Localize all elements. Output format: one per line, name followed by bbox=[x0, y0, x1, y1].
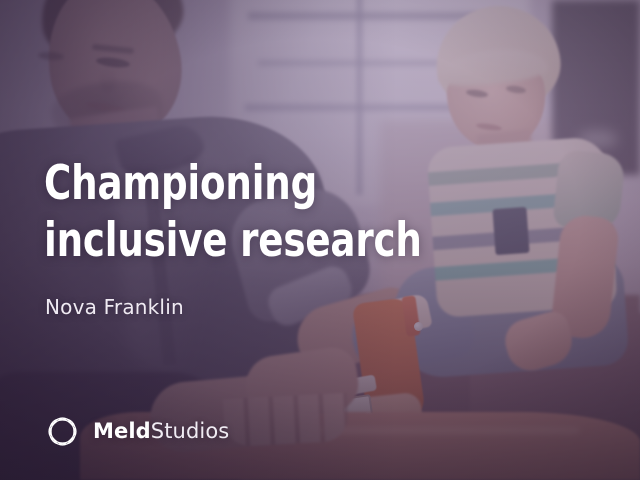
author-byline: Nova Franklin bbox=[45, 295, 184, 319]
logo-word-studios: Studios bbox=[151, 419, 230, 443]
meld-rings-logo-mark bbox=[45, 414, 80, 449]
slide-content: Championing inclusive research Nova Fran… bbox=[0, 0, 640, 480]
logo-wordmark: MeldStudios bbox=[93, 421, 229, 442]
meld-studios-logo[interactable]: MeldStudios bbox=[45, 414, 229, 449]
logo-word-meld: Meld bbox=[93, 419, 151, 443]
title-slide: Championing inclusive research Nova Fran… bbox=[0, 0, 640, 480]
page-title: Championing inclusive research bbox=[44, 155, 422, 269]
